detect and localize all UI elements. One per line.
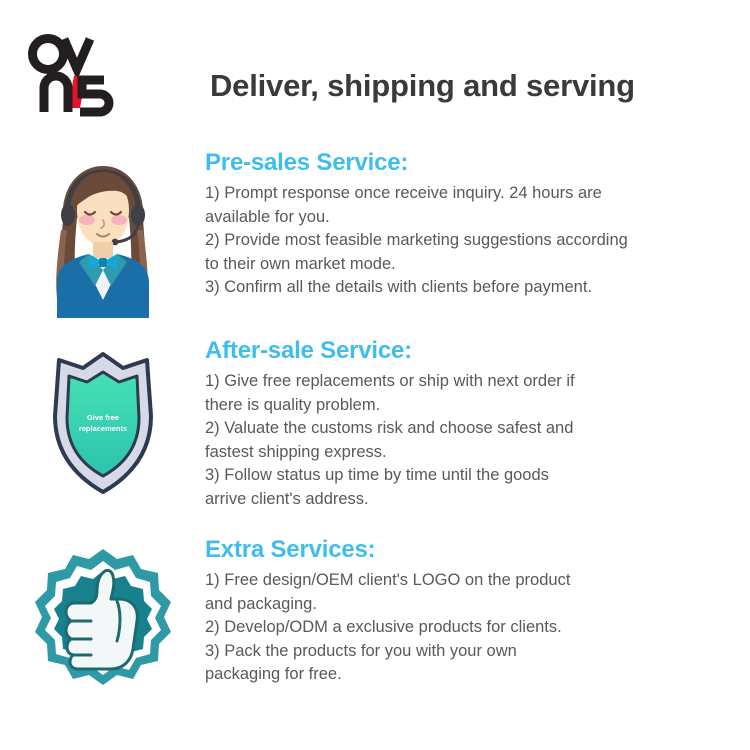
thumbs-up-badge-icon [33, 545, 173, 685]
shield-icon: Give free replacements [37, 346, 169, 501]
ovns-logo-mark [28, 32, 114, 118]
section-heading: Extra Services: [205, 537, 732, 563]
section-text-container: After-sale Service: 1) Give free replace… [205, 338, 750, 511]
section-text-container: Pre-sales Service: 1) Prompt response on… [205, 150, 750, 300]
section-body: 1) Free design/OEM client's LOGO on the … [205, 569, 732, 686]
section-pre-sales: Pre-sales Service: 1) Prompt response on… [0, 150, 750, 318]
body-line: 1) Give free replacements or ship with n… [205, 370, 732, 393]
ovns-logo [28, 32, 114, 118]
section-extra-services: Extra Services: 1) Free design/OEM clien… [0, 537, 750, 687]
body-line: 3) Pack the products for you with your o… [205, 640, 732, 663]
section-icon-container [0, 537, 205, 685]
customer-service-agent-icon [33, 158, 173, 318]
section-heading: Pre-sales Service: [205, 150, 732, 176]
body-line: arrive client's address. [205, 488, 732, 511]
section-after-sale: Give free replacements After-sale Servic… [0, 338, 750, 511]
body-line: 1) Free design/OEM client's LOGO on the … [205, 569, 732, 592]
body-line: there is quality problem. [205, 394, 732, 417]
section-body: 1) Give free replacements or ship with n… [205, 370, 732, 511]
section-text-container: Extra Services: 1) Free design/OEM clien… [205, 537, 750, 687]
section-body: 1) Prompt response once receive inquiry.… [205, 182, 732, 299]
body-line: packaging for free. [205, 663, 732, 686]
body-line: 3) Confirm all the details with clients … [205, 276, 732, 299]
body-line: 3) Follow status up time by time until t… [205, 464, 732, 487]
page-header: Deliver, shipping and serving [0, 0, 750, 132]
body-line: 2) Develop/ODM a exclusive products for … [205, 616, 732, 639]
body-line: 2) Valuate the customs risk and choose s… [205, 417, 732, 440]
page-title: Deliver, shipping and serving [210, 68, 635, 104]
body-line: and packaging. [205, 593, 732, 616]
body-line: fastest shipping express. [205, 441, 732, 464]
body-line: available for you. [205, 206, 732, 229]
body-line: to their own market mode. [205, 253, 732, 276]
body-line: 2) Provide most feasible marketing sugge… [205, 229, 732, 252]
shield-label-line2: replacements [78, 424, 126, 433]
body-line: 1) Prompt response once receive inquiry.… [205, 182, 732, 205]
shield-label-line1: Give free [86, 413, 118, 422]
section-heading: After-sale Service: [205, 338, 732, 364]
section-icon-container: Give free replacements [0, 338, 205, 501]
section-icon-container [0, 150, 205, 318]
